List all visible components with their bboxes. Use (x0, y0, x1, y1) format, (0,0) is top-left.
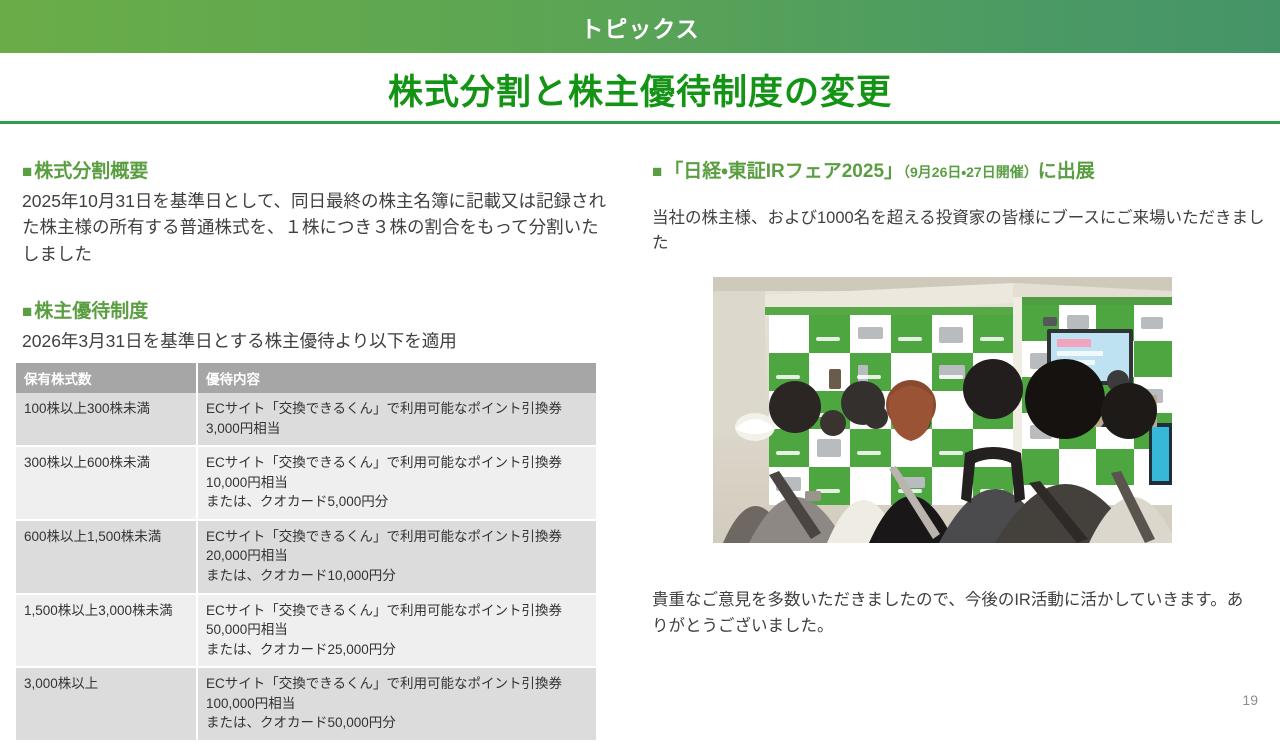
square-bullet-icon: ■ (22, 162, 32, 181)
stock-split-heading: ■株式分割概要 (22, 160, 608, 184)
cell-benefit: ECサイト「交換できるくん」で利用可能なポイント引換券50,000円相当または、… (198, 595, 596, 669)
cell-benefit: ECサイト「交換できるくん」で利用可能なポイント引換券100,000円相当または… (198, 668, 596, 742)
stock-split-section: ■株式分割概要 2025年10月31日を基準日として、同日最終の株主名簿に記載又… (22, 160, 608, 268)
cell-shares: 100株以上300株未満 (16, 393, 198, 447)
page-title: 株式分割と株主優待制度の変更 (0, 64, 1280, 115)
benefit-table: 保有株式数 優待内容 100株以上300株未満ECサイト「交換できるくん」で利用… (16, 363, 596, 742)
shareholder-benefit-heading: ■株主優待制度 (22, 300, 608, 324)
ir-fair-section: ■「日経・東証IRフェア2025」（9月26日・27日開催）に出展 当社の株主様… (652, 160, 1272, 257)
shareholder-benefit-heading-label: 株主優待制度 (34, 301, 148, 322)
table-row: 100株以上300株未満ECサイト「交換できるくん」で利用可能なポイント引換券3… (16, 393, 596, 447)
shareholder-benefit-section: ■株主優待制度 2026年3月31日を基準日とする株主優待より以下を適用 (22, 300, 608, 354)
cell-shares: 3,000株以上 (16, 668, 198, 742)
cell-benefit: ECサイト「交換できるくん」で利用可能なポイント引換券10,000円相当または、… (198, 447, 596, 521)
table-header-row: 保有株式数 優待内容 (16, 363, 596, 393)
stock-split-heading-label: 株式分割概要 (34, 161, 148, 182)
cell-shares: 600株以上1,500株未満 (16, 521, 198, 595)
stock-split-body: 2025年10月31日を基準日として、同日最終の株主名簿に記載又は記録された株主… (22, 188, 608, 268)
ir-fair-heading-dates: （9月26日・27日開催） (903, 164, 1038, 180)
ir-fair-body: 当社の株主様、および1000名を超える投資家の皆様にブースにご来場いただきました (652, 206, 1272, 257)
table-row: 600株以上1,500株未満ECサイト「交換できるくん」で利用可能なポイント引換… (16, 521, 596, 595)
table-row: 300株以上600株未満ECサイト「交換できるくん」で利用可能なポイント引換券1… (16, 447, 596, 521)
square-bullet-icon: ■ (22, 302, 32, 321)
cell-benefit: ECサイト「交換できるくん」で利用可能なポイント引換券20,000円相当または、… (198, 521, 596, 595)
ir-fair-heading: ■「日経・東証IRフェア2025」（9月26日・27日開催）に出展 (652, 160, 1272, 184)
column-header-benefit: 優待内容 (198, 363, 596, 393)
benefit-table-body: 100株以上300株未満ECサイト「交換できるくん」で利用可能なポイント引換券3… (16, 393, 596, 742)
ir-fair-booth-photo (713, 277, 1172, 543)
ir-fair-heading-main: 「日経・東証IRフェア2025」 (664, 161, 903, 182)
table-row: 3,000株以上ECサイト「交換できるくん」で利用可能なポイント引換券100,0… (16, 668, 596, 742)
cell-benefit: ECサイト「交換できるくん」で利用可能なポイント引換券3,000円相当 (198, 393, 596, 447)
column-header-shares: 保有株式数 (16, 363, 198, 393)
ir-fair-heading-tail: に出展 (1038, 161, 1095, 182)
cell-shares: 1,500株以上3,000株未満 (16, 595, 198, 669)
topics-header-band: トピックス (0, 0, 1280, 53)
title-divider (0, 121, 1280, 124)
square-bullet-icon: ■ (652, 162, 662, 181)
shareholder-benefit-body: 2026年3月31日を基準日とする株主優待より以下を適用 (22, 328, 608, 355)
cell-shares: 300株以上600株未満 (16, 447, 198, 521)
booth-photo-illustration (713, 277, 1172, 543)
table-row: 1,500株以上3,000株未満ECサイト「交換できるくん」で利用可能なポイント… (16, 595, 596, 669)
ir-fair-caption: 貴重なご意見を多数いただきましたので、今後のIR活動に活かしていきます。ありがと… (652, 588, 1252, 639)
page-number: 19 (1242, 692, 1258, 708)
benefit-table-head: 保有株式数 優待内容 (16, 363, 596, 393)
topics-header-label: トピックス (580, 10, 699, 44)
